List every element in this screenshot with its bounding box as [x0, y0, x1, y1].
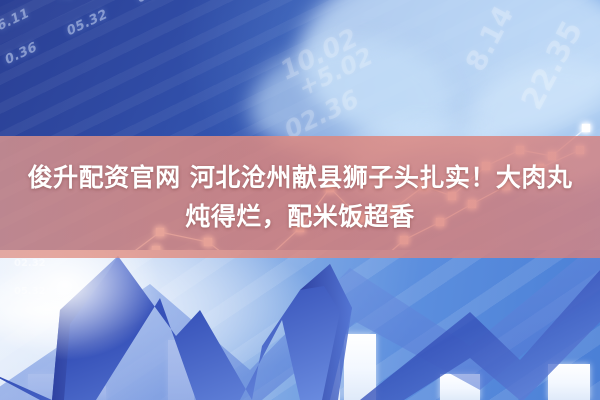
- chart-node-marker: [582, 124, 590, 132]
- headline-line-1: 俊升配资官网 河北沧州献县狮子头扎实！大肉丸: [28, 158, 573, 197]
- banner-image: -0.05 3.26 -50.02 -02.36 21.14 -52.35 1.…: [0, 0, 600, 400]
- headline-line-2: 炖得烂，配米饭超香: [185, 197, 415, 236]
- bottom-chart-scene: 02.32 05.32: [0, 250, 600, 400]
- headline-band: 俊升配资官网 河北沧州献县狮子头扎实！大肉丸 炖得烂，配米饭超香: [0, 136, 600, 258]
